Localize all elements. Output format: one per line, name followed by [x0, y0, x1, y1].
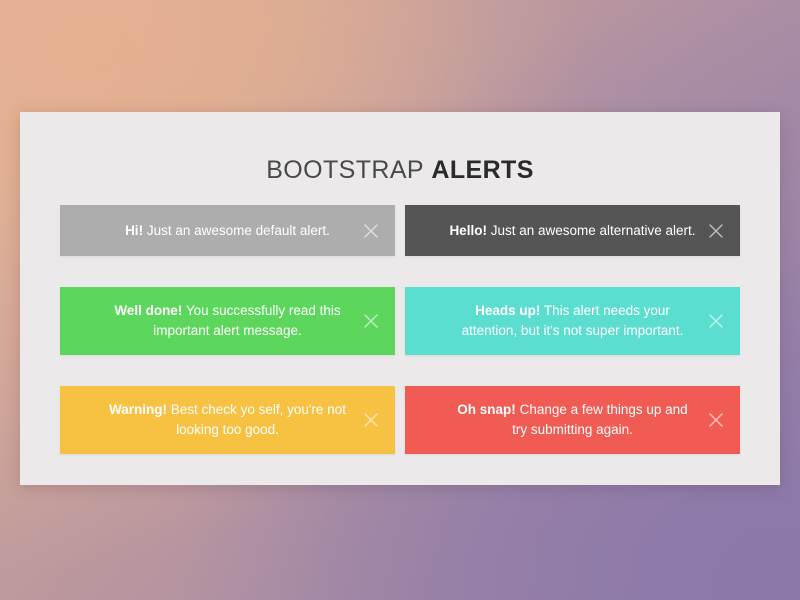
alert-success: Well done! You successfully read this im… — [60, 287, 395, 355]
page-title: BOOTSTRAP ALERTS — [20, 112, 780, 183]
close-icon[interactable] — [361, 410, 381, 430]
alert-lead: Oh snap! — [457, 402, 516, 417]
alert-warning: Warning! Best check yo self, you're not … — [60, 386, 395, 454]
alerts-card: BOOTSTRAP ALERTS Hi! Just an awesome def… — [20, 112, 780, 485]
alert-body: Best check yo self, you're not looking t… — [167, 402, 346, 437]
alert-body: You successfully read this important ale… — [153, 303, 340, 338]
alert-lead: Heads up! — [475, 303, 540, 318]
alert-text: Warning! Best check yo self, you're not … — [104, 400, 351, 440]
alert-info: Heads up! This alert needs your attentio… — [405, 287, 740, 355]
alert-lead: Hi! — [125, 223, 143, 238]
alert-text: Hello! Just an awesome alternative alert… — [449, 221, 695, 241]
page-title-light: BOOTSTRAP — [266, 156, 424, 184]
close-icon[interactable] — [706, 410, 726, 430]
alert-alternative: Hello! Just an awesome alternative alert… — [405, 205, 740, 256]
alert-grid: Hi! Just an awesome default alert.Hello!… — [20, 183, 780, 454]
close-icon[interactable] — [361, 311, 381, 331]
alert-default: Hi! Just an awesome default alert. — [60, 205, 395, 256]
alert-danger: Oh snap! Change a few things up and try … — [405, 386, 740, 454]
alert-body: Just an awesome alternative alert. — [487, 223, 696, 238]
alert-text: Hi! Just an awesome default alert. — [125, 221, 330, 241]
alert-text: Heads up! This alert needs your attentio… — [449, 301, 696, 341]
alert-text: Oh snap! Change a few things up and try … — [449, 400, 696, 440]
page-title-bold: ALERTS — [431, 156, 533, 184]
alert-lead: Warning! — [109, 402, 167, 417]
alert-body: Change a few things up and try submittin… — [512, 402, 688, 437]
alert-text: Well done! You successfully read this im… — [104, 301, 351, 341]
alert-lead: Hello! — [449, 223, 487, 238]
close-icon[interactable] — [361, 221, 381, 241]
close-icon[interactable] — [706, 221, 726, 241]
alert-body: Just an awesome default alert. — [143, 223, 330, 238]
alert-lead: Well done! — [114, 303, 182, 318]
close-icon[interactable] — [706, 311, 726, 331]
